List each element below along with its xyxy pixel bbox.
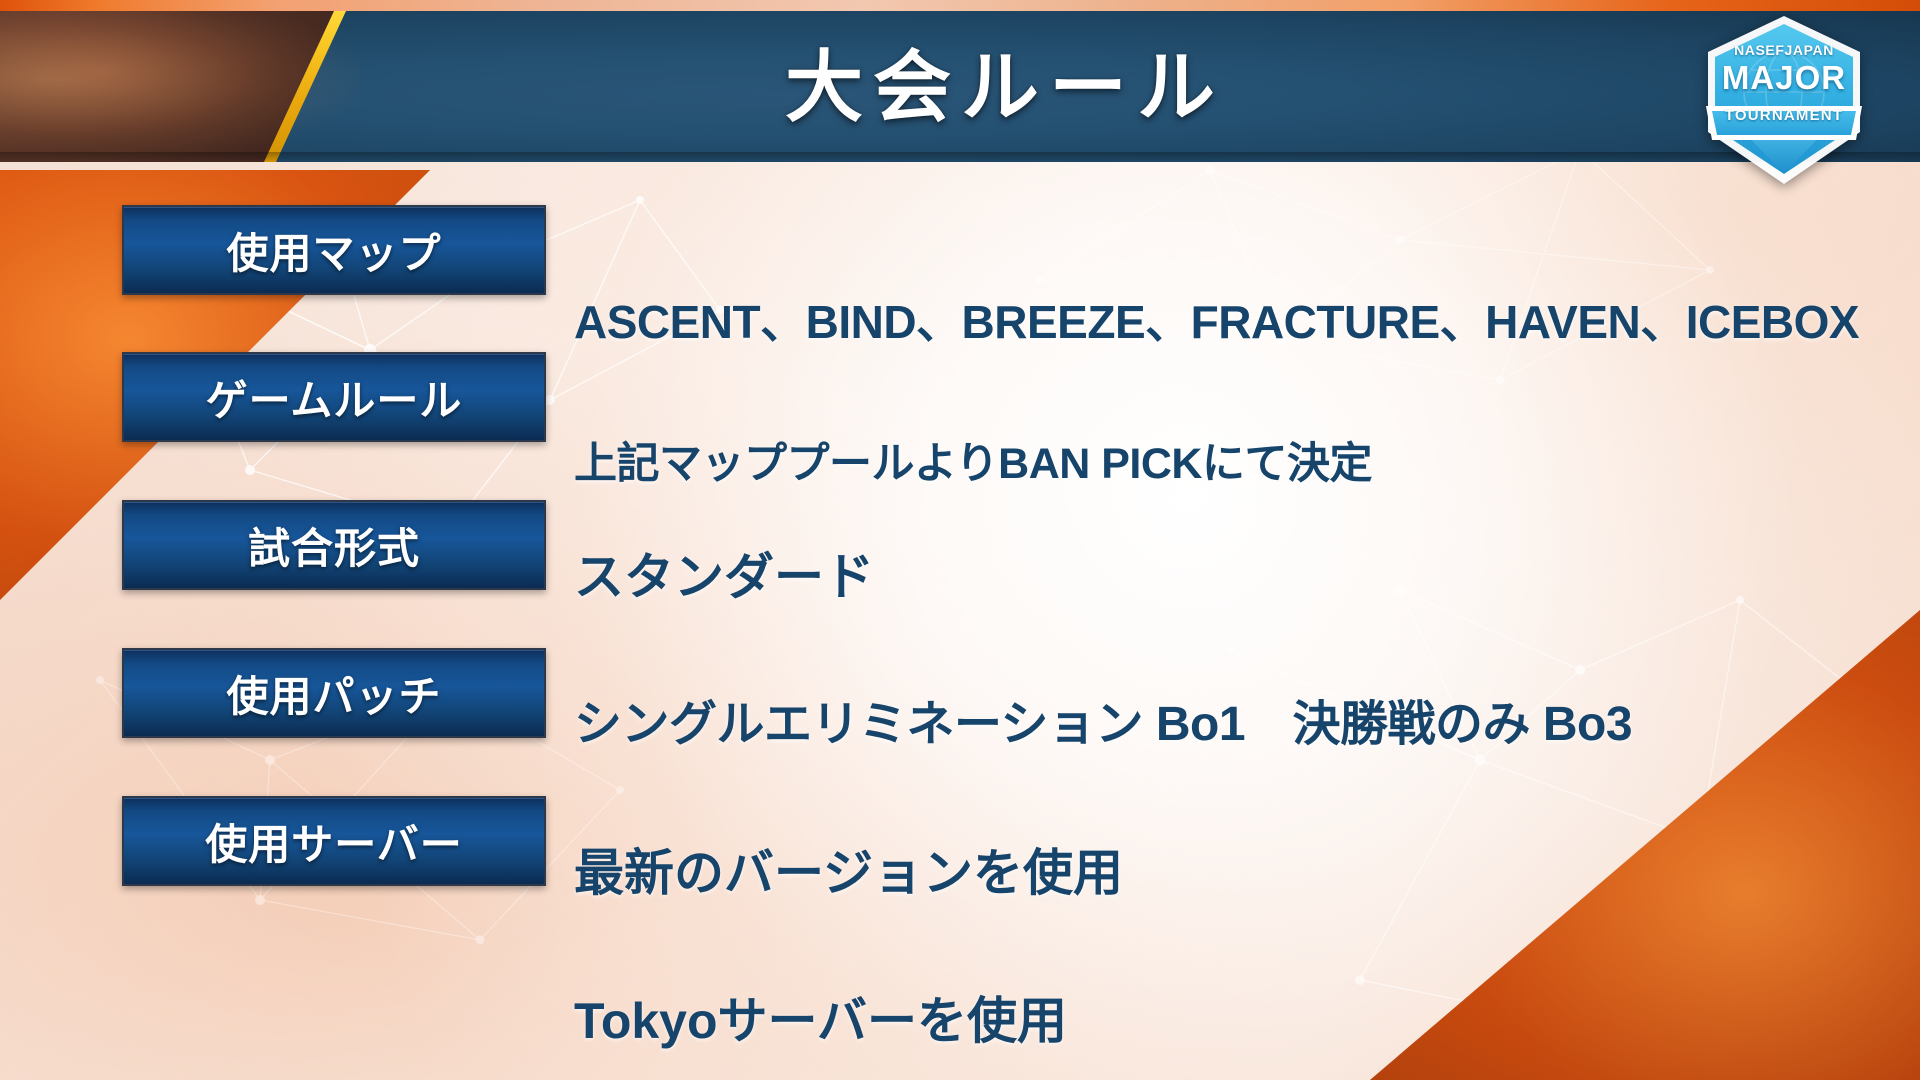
rule-value-server-line1: Tokyoサーバーを使用 — [574, 976, 1067, 1066]
rule-value-server: Tokyoサーバーを使用 — [574, 796, 1067, 1080]
page-title-text: 大会ルール — [785, 48, 1225, 126]
rule-label-server: 使用サーバー — [122, 796, 546, 886]
slide-root: 大会ルール — [0, 0, 1920, 1080]
top-accent-strip — [0, 0, 1920, 11]
rule-label-server-text: 使用サーバー — [205, 811, 463, 872]
rule-label-gamerule: ゲームルール — [122, 352, 546, 442]
rule-label-patch: 使用パッチ — [122, 648, 546, 738]
rule-label-maps-text: 使用マップ — [226, 220, 441, 281]
rule-label-gamerule-text: ゲームルール — [206, 367, 463, 428]
rule-label-patch-text: 使用パッチ — [226, 663, 441, 724]
rule-row-server: 使用サーバー Tokyoサーバーを使用 — [122, 796, 1067, 1080]
page-title: 大会ルール — [0, 11, 1920, 162]
header-band: 大会ルール — [0, 11, 1920, 162]
rule-label-maps: 使用マップ — [122, 205, 546, 295]
rule-label-format: 試合形式 — [122, 500, 546, 590]
rule-value-maps-line1: ASCENT、BIND、BREEZE、FRACTURE、HAVEN、ICEBOX — [574, 299, 1859, 347]
rule-label-format-text: 試合形式 — [248, 515, 420, 576]
tournament-logo-badge: NASEFJAPAN MAJOR TOURNAMENT — [1704, 14, 1864, 186]
rules-list: 使用マップ ASCENT、BIND、BREEZE、FRACTURE、HAVEN、… — [0, 162, 1920, 1080]
